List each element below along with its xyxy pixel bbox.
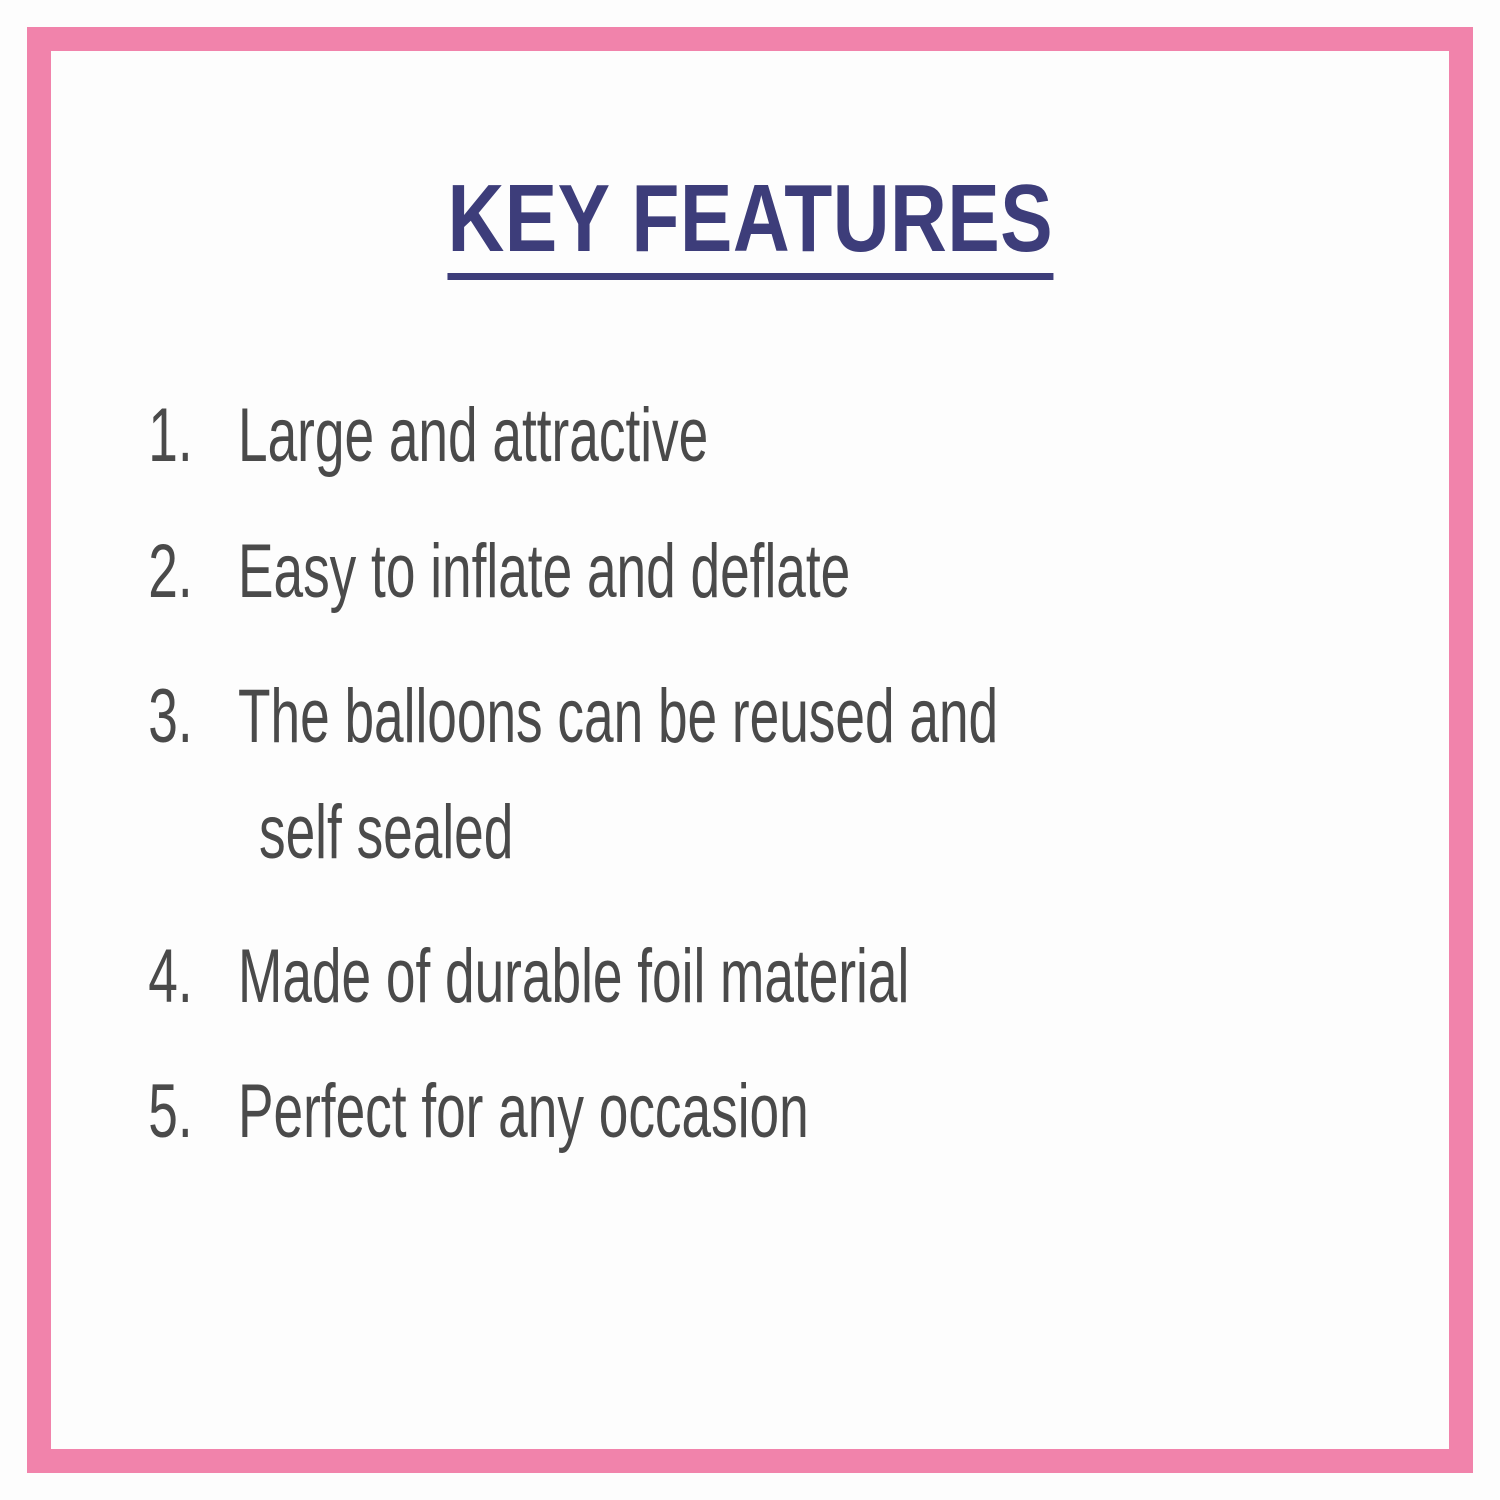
page-title-text: KEY FEATURES bbox=[447, 171, 1053, 280]
list-item-text: Perfect for any occasion bbox=[238, 1067, 1086, 1157]
features-list: 1. Large and attractive 2. Easy to infla… bbox=[51, 391, 1449, 1203]
list-item: 5. Perfect for any occasion bbox=[51, 1067, 1449, 1157]
list-item-row: 1. Large and attractive bbox=[51, 391, 1449, 481]
list-item-number: 1. bbox=[51, 391, 209, 481]
list-item-row: 3. The balloons can be reused and self s… bbox=[51, 672, 1449, 877]
list-item-number: 5. bbox=[51, 1067, 209, 1157]
list-item: 3. The balloons can be reused and self s… bbox=[51, 672, 1449, 877]
list-item-row: 5. Perfect for any occasion bbox=[51, 1067, 1449, 1157]
list-item-number: 4. bbox=[51, 932, 209, 1022]
list-item-text: The balloons can be reused and self seal… bbox=[238, 672, 1086, 877]
page-title: KEY FEATURES bbox=[51, 171, 1449, 280]
list-item: 2. Easy to inflate and deflate bbox=[51, 527, 1449, 617]
list-item-number: 2. bbox=[51, 527, 209, 617]
list-item: 1. Large and attractive bbox=[51, 391, 1449, 481]
list-item-text: Made of durable foil material bbox=[238, 932, 1086, 1022]
key-features-card: KEY FEATURES 1. Large and attractive 2. … bbox=[0, 0, 1500, 1500]
list-item-number: 3. bbox=[51, 672, 209, 762]
list-item-text-line-2: self sealed bbox=[238, 788, 1086, 878]
list-item-text-line-1: The balloons can be reused and bbox=[238, 674, 998, 759]
list-item-text: Large and attractive bbox=[238, 391, 1086, 481]
list-item: 4. Made of durable foil material bbox=[51, 932, 1449, 1022]
card-content: KEY FEATURES 1. Large and attractive 2. … bbox=[51, 51, 1449, 1449]
list-item-row: 4. Made of durable foil material bbox=[51, 932, 1449, 1022]
list-item-row: 2. Easy to inflate and deflate bbox=[51, 527, 1449, 617]
list-item-text: Easy to inflate and deflate bbox=[238, 527, 1086, 617]
